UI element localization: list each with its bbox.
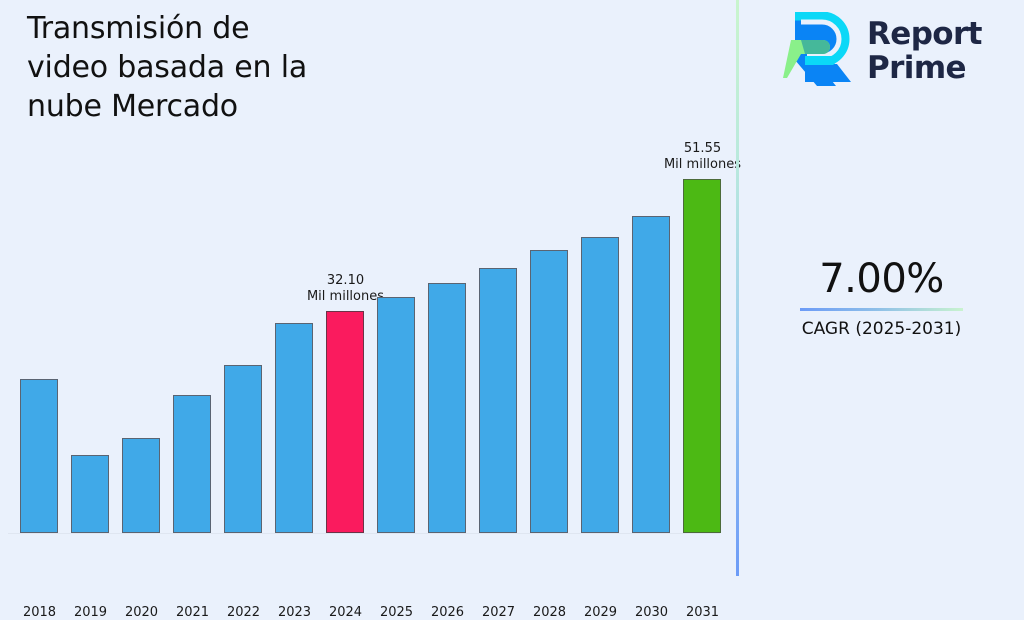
bar-group-2031: 51.55 Mil millones2031 bbox=[677, 63, 728, 533]
bar-2029[interactable] bbox=[581, 237, 619, 533]
cagr-divider-rule bbox=[800, 308, 963, 311]
bar-group-2024: 32.10 Mil millones2024 bbox=[320, 63, 371, 533]
bar-2024[interactable] bbox=[326, 311, 364, 533]
bar-2025[interactable] bbox=[377, 297, 415, 533]
x-axis-tick-2019: 2019 bbox=[65, 605, 116, 620]
bar-2018[interactable] bbox=[20, 379, 58, 533]
side-panel: Report Prime 7.00% CAGR (2025-2031) bbox=[739, 0, 1024, 576]
cagr-block: 7.00% CAGR (2025-2031) bbox=[739, 256, 1024, 340]
bar-group-2021: 2021 bbox=[167, 63, 218, 533]
bar-group-2022: 2022 bbox=[218, 63, 269, 533]
brand-name: Report Prime bbox=[867, 17, 982, 85]
x-axis-tick-2029: 2029 bbox=[575, 605, 626, 620]
brand-logo[interactable]: Report Prime bbox=[781, 12, 982, 90]
bar-2027[interactable] bbox=[479, 268, 517, 533]
x-axis-tick-2018: 2018 bbox=[14, 605, 65, 620]
x-axis-tick-2023: 2023 bbox=[269, 605, 320, 620]
bar-2030[interactable] bbox=[632, 216, 670, 533]
x-axis-tick-2027: 2027 bbox=[473, 605, 524, 620]
bar-group-2029: 2029 bbox=[575, 63, 626, 533]
cagr-value: 7.00% bbox=[739, 256, 1024, 302]
x-axis-tick-2022: 2022 bbox=[218, 605, 269, 620]
bar-group-2026: 2026 bbox=[422, 63, 473, 533]
bar-2031[interactable] bbox=[683, 179, 721, 533]
bar-2021[interactable] bbox=[173, 395, 211, 533]
report-prime-logo-icon bbox=[781, 12, 853, 90]
bar-2019[interactable] bbox=[71, 455, 109, 533]
x-axis-tick-2024: 2024 bbox=[320, 605, 371, 620]
bar-group-2025: 2025 bbox=[371, 63, 422, 533]
x-axis-tick-2026: 2026 bbox=[422, 605, 473, 620]
bar-2023[interactable] bbox=[275, 323, 313, 533]
bar-2020[interactable] bbox=[122, 438, 160, 533]
bar-chart-plot-area: 20182019202020212022202332.10 Mil millon… bbox=[0, 0, 736, 576]
cagr-caption: CAGR (2025-2031) bbox=[739, 318, 1024, 340]
x-axis-tick-2020: 2020 bbox=[116, 605, 167, 620]
bar-group-2028: 2028 bbox=[524, 63, 575, 533]
x-axis-tick-2021: 2021 bbox=[167, 605, 218, 620]
x-axis-tick-2025: 2025 bbox=[371, 605, 422, 620]
bar-group-2019: 2019 bbox=[65, 63, 116, 533]
x-axis-tick-2030: 2030 bbox=[626, 605, 677, 620]
bar-group-2030: 2030 bbox=[626, 63, 677, 533]
bar-2026[interactable] bbox=[428, 283, 466, 533]
bar-group-2027: 2027 bbox=[473, 63, 524, 533]
bar-2022[interactable] bbox=[224, 365, 262, 533]
chart-infographic: Transmisión de video basada en la nube M… bbox=[0, 0, 1024, 576]
bar-2028[interactable] bbox=[530, 250, 568, 533]
bar-group-2018: 2018 bbox=[14, 63, 65, 533]
bar-group-2020: 2020 bbox=[116, 63, 167, 533]
x-axis-line bbox=[8, 533, 720, 534]
x-axis-tick-2031: 2031 bbox=[677, 605, 728, 620]
x-axis-tick-2028: 2028 bbox=[524, 605, 575, 620]
